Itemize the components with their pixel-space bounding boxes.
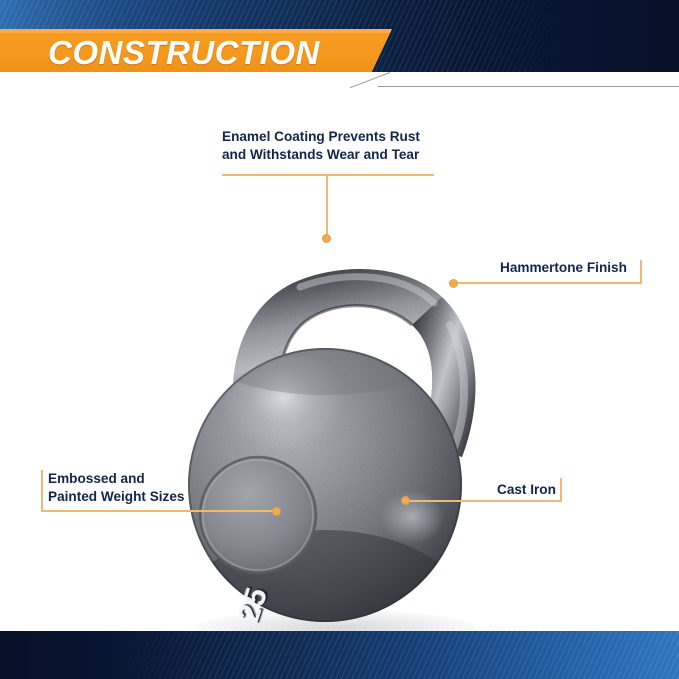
callout-embossed-start-tick bbox=[41, 470, 43, 512]
product-stage: 25 bbox=[0, 90, 679, 635]
callout-cast-iron-line1: Cast Iron bbox=[497, 481, 556, 499]
callout-cast-iron-anchor-dot bbox=[401, 496, 410, 505]
callout-embossed-line2: Painted Weight Sizes bbox=[48, 488, 184, 506]
callout-enamel-anchor-dot bbox=[322, 234, 331, 243]
callout-hammertone-end-tick bbox=[640, 260, 642, 284]
kettlebell-body bbox=[175, 311, 475, 625]
header-rule bbox=[378, 86, 679, 87]
callout-enamel-line2: and Withstands Wear and Tear bbox=[222, 146, 420, 164]
callout-enamel-leader-line bbox=[326, 174, 328, 238]
callout-hammertone-anchor-dot bbox=[449, 279, 458, 288]
callout-cast-iron-leader-line bbox=[408, 500, 444, 502]
kettlebell-image bbox=[150, 185, 530, 625]
callout-embossed-line1: Embossed and bbox=[48, 470, 184, 488]
callout-cast-iron-end-tick bbox=[560, 478, 562, 502]
footer-band bbox=[0, 631, 679, 679]
page-title: CONSTRUCTION bbox=[48, 29, 320, 72]
callout-cast-iron: Cast Iron bbox=[497, 481, 556, 499]
callout-hammertone-leader-line bbox=[455, 282, 502, 284]
callout-enamel-underline bbox=[222, 174, 434, 176]
callout-embossed-anchor-dot bbox=[272, 507, 281, 516]
callout-embossed-weight-sizes: Embossed and Painted Weight Sizes bbox=[48, 470, 184, 506]
header-band: CONSTRUCTION bbox=[0, 0, 679, 72]
header-dark-panel bbox=[519, 0, 679, 72]
footer-diagonal-stripes bbox=[120, 631, 679, 679]
callout-hammertone-line1: Hammertone Finish bbox=[500, 259, 627, 277]
weight-medallion bbox=[200, 457, 316, 573]
callout-hammertone-underline bbox=[500, 282, 642, 284]
callout-hammertone-finish: Hammertone Finish bbox=[500, 259, 627, 277]
callout-enamel-line1: Enamel Coating Prevents Rust bbox=[222, 128, 420, 146]
callout-enamel-coating: Enamel Coating Prevents Rust and Withsta… bbox=[222, 128, 420, 164]
callout-cast-iron-underline bbox=[440, 500, 562, 502]
